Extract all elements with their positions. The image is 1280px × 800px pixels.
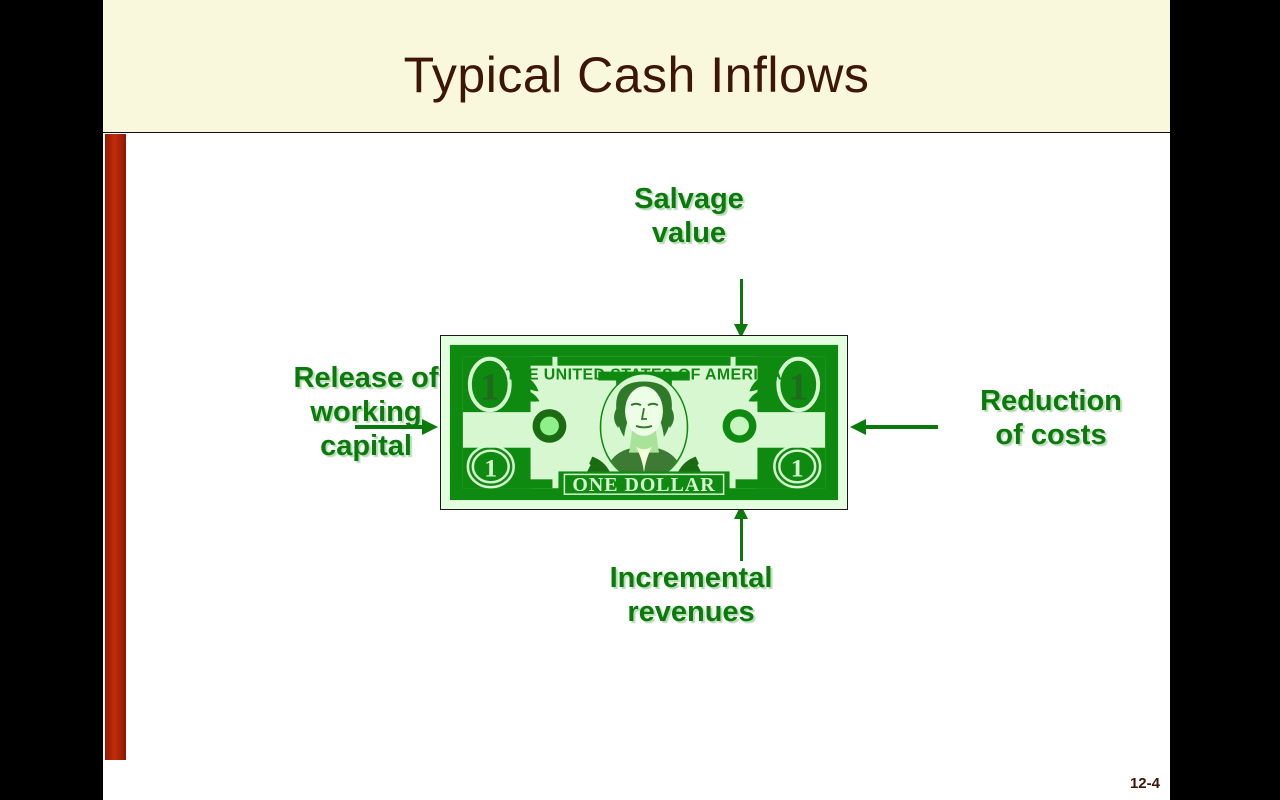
left-accent-bar — [105, 134, 126, 760]
bill-rosette-right — [723, 409, 757, 443]
page-title: Typical Cash Inflows — [103, 0, 1170, 133]
bill-corner-lower-left: 1 — [463, 446, 531, 489]
arrow-right-icon — [422, 419, 438, 435]
page-number: 12-4 — [1130, 775, 1160, 792]
slide-canvas: Typical Cash Inflows Salvage value Reduc… — [103, 0, 1170, 800]
bill-rosette-left — [533, 409, 567, 443]
title-band: Typical Cash Inflows — [103, 0, 1170, 133]
svg-text:1: 1 — [480, 364, 500, 408]
dollar-bill-image: 1 1 — [440, 335, 848, 510]
callout-label-reduction-of-costs: Reduction of costs — [926, 384, 1176, 452]
bill-corner-upper-left: 1 — [463, 357, 540, 412]
svg-text:1: 1 — [788, 364, 808, 408]
bill-top-strip-center — [557, 357, 730, 366]
bill-denomination-text: ONE DOLLAR — [572, 474, 715, 496]
arrow-release-of-working-capital-shaft — [355, 425, 427, 429]
arrow-incremental-revenues-shaft — [740, 515, 743, 561]
svg-text:1: 1 — [484, 453, 497, 482]
svg-text:1: 1 — [791, 453, 804, 482]
arrow-reduction-of-costs-shaft — [866, 425, 938, 429]
diagram-area: Salvage value Reduction of costs Increme… — [126, 134, 1170, 800]
callout-label-incremental-revenues: Incremental revenues — [526, 561, 856, 629]
bill-denomination-banner: ONE DOLLAR — [558, 471, 729, 497]
dollar-bill-svg: 1 1 — [441, 336, 847, 509]
callout-label-salvage-value: Salvage value — [579, 182, 799, 250]
bill-corner-lower-right: 1 — [757, 446, 825, 489]
bill-corner-upper-right: 1 — [748, 357, 825, 412]
slide-root: Typical Cash Inflows Salvage value Reduc… — [0, 0, 1280, 800]
arrow-left-icon — [850, 419, 866, 435]
